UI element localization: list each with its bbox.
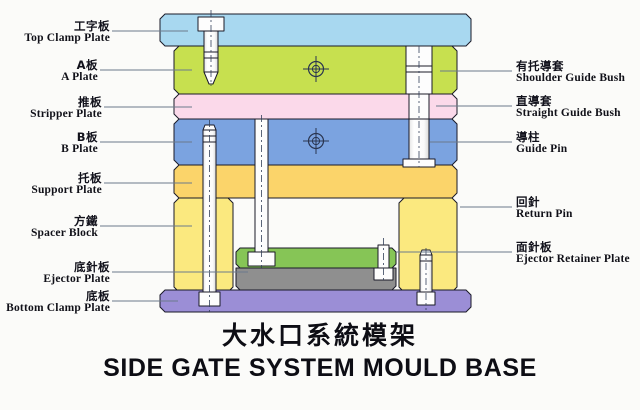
- label-b-plate-cn: B板: [0, 131, 98, 143]
- label-top-clamp-plate-cn: 工字板: [0, 20, 110, 32]
- label-ejector-retainer-plate: 面針板 Ejector Retainer Plate: [516, 241, 630, 266]
- label-a-plate-cn: A板: [0, 59, 98, 71]
- label-ejector-plate: 底針板 Ejector Plate: [0, 261, 110, 286]
- title-chinese: 大水口系統模架: [0, 316, 640, 352]
- title-english: SIDE GATE SYSTEM MOULD BASE: [0, 354, 640, 383]
- label-stripper-plate: 推板 Stripper Plate: [0, 96, 102, 121]
- label-support-plate: 托板 Support Plate: [0, 172, 102, 197]
- label-stripper-plate-en: Stripper Plate: [0, 108, 102, 120]
- label-a-plate: A板 A Plate: [0, 59, 98, 84]
- label-bottom-clamp-plate-en: Bottom Clamp Plate: [0, 302, 110, 314]
- diagram-title: 大水口系統模架 SIDE GATE SYSTEM MOULD BASE: [0, 316, 640, 383]
- label-straight-guide-bush-en: Straight Guide Bush: [516, 107, 621, 119]
- label-return-pin: 回針 Return Pin: [516, 196, 573, 221]
- label-b-plate-en: B Plate: [0, 143, 98, 155]
- label-shoulder-guide-bush: 有托導套 Shoulder Guide Bush: [516, 60, 625, 85]
- label-guide-pin-cn: 導柱: [516, 131, 567, 143]
- label-spacer-block-en: Spacer Block: [0, 227, 98, 239]
- label-support-plate-cn: 托板: [0, 172, 102, 184]
- label-stripper-plate-cn: 推板: [0, 96, 102, 108]
- label-ejector-plate-en: Ejector Plate: [0, 273, 110, 285]
- label-ejector-plate-cn: 底針板: [0, 261, 110, 273]
- label-return-pin-en: Return Pin: [516, 208, 573, 220]
- label-top-clamp-plate-en: Top Clamp Plate: [0, 32, 110, 44]
- label-guide-pin-en: Guide Pin: [516, 143, 567, 155]
- return-pin-right: [417, 248, 435, 310]
- label-guide-pin: 導柱 Guide Pin: [516, 131, 567, 156]
- label-a-plate-en: A Plate: [0, 71, 98, 83]
- label-bottom-clamp-plate-cn: 底板: [0, 290, 110, 302]
- plate-ejector-plate: [236, 268, 396, 290]
- label-straight-guide-bush: 直導套 Straight Guide Bush: [516, 95, 621, 120]
- label-return-pin-cn: 回針: [516, 196, 573, 208]
- label-ejector-retainer-plate-en: Ejector Retainer Plate: [516, 253, 630, 265]
- label-bottom-clamp-plate: 底板 Bottom Clamp Plate: [0, 290, 110, 315]
- label-straight-guide-bush-cn: 直導套: [516, 95, 621, 107]
- label-spacer-block-cn: 方鐵: [0, 215, 98, 227]
- label-support-plate-en: Support Plate: [0, 184, 102, 196]
- label-b-plate: B板 B Plate: [0, 131, 98, 156]
- label-shoulder-guide-bush-cn: 有托導套: [516, 60, 625, 72]
- label-ejector-retainer-plate-cn: 面針板: [516, 241, 630, 253]
- label-top-clamp-plate: 工字板 Top Clamp Plate: [0, 20, 110, 45]
- diagram-canvas: 工字板 Top Clamp Plate A板 A Plate 推板 Stripp…: [0, 0, 640, 410]
- label-spacer-block: 方鐵 Spacer Block: [0, 215, 98, 240]
- label-shoulder-guide-bush-en: Shoulder Guide Bush: [516, 72, 625, 84]
